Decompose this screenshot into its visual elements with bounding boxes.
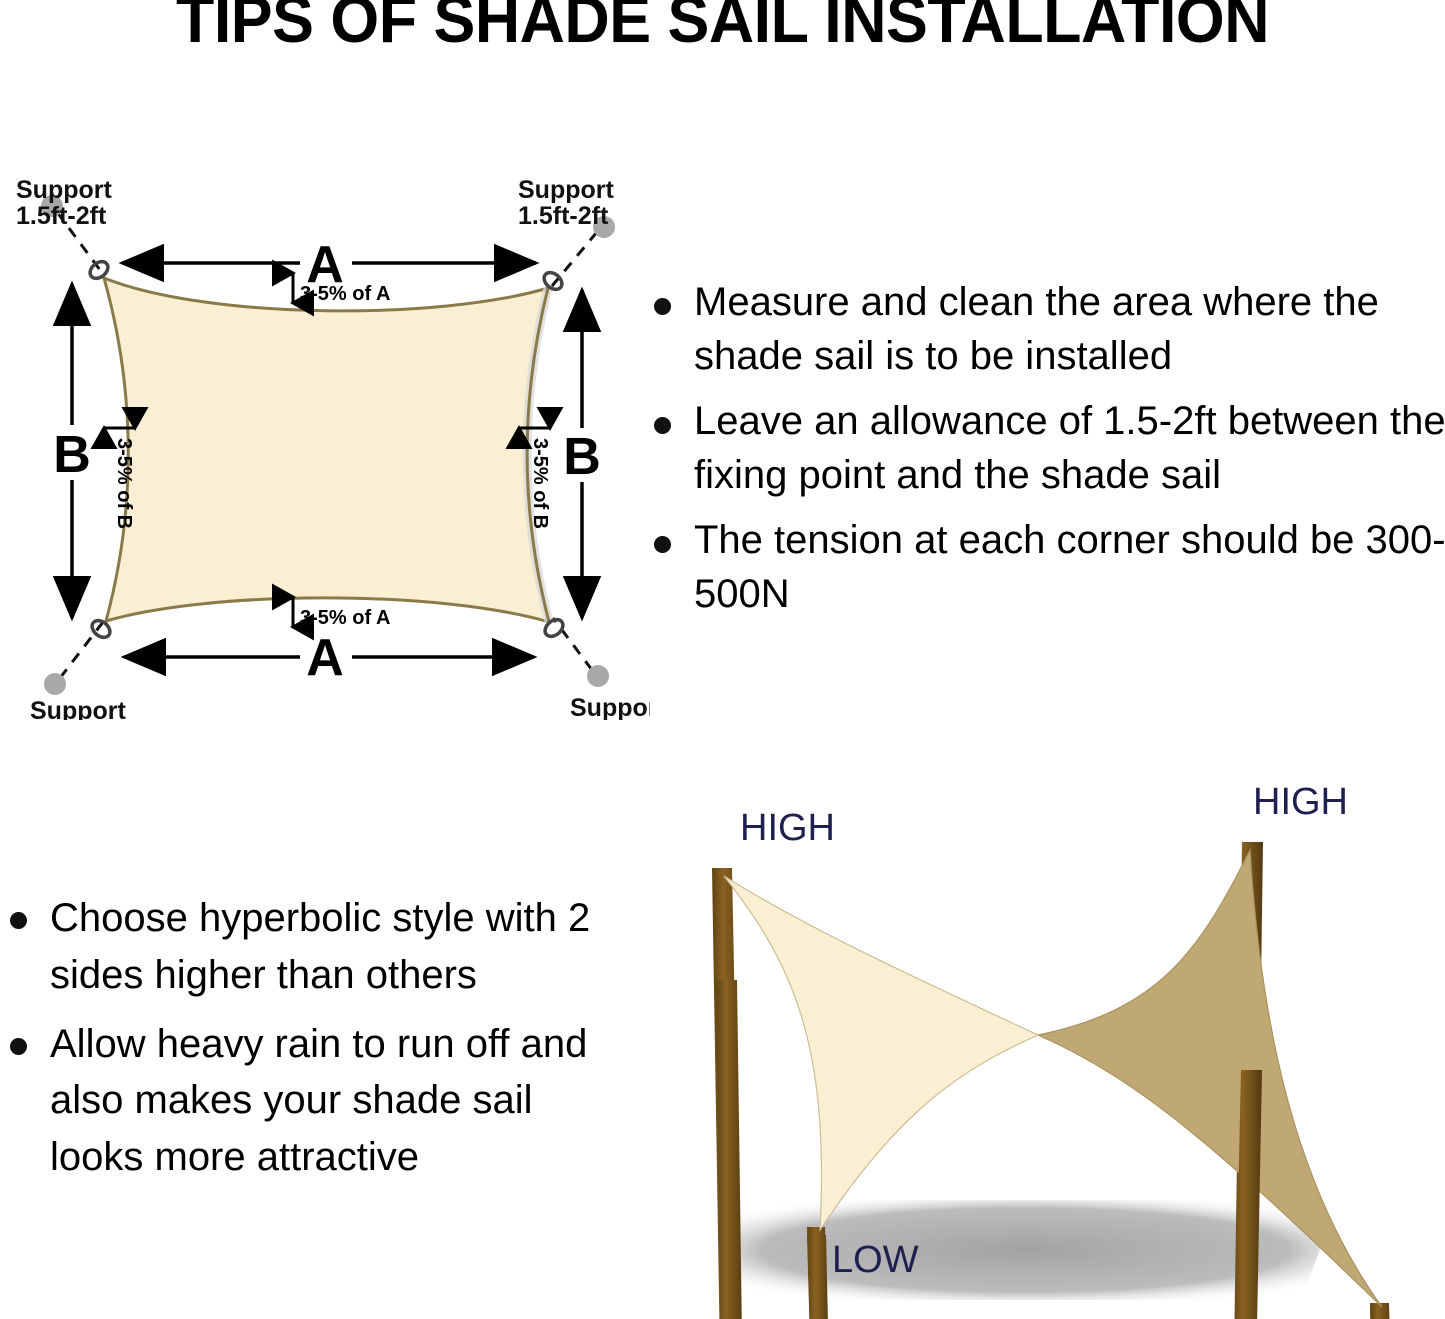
sail-cream-panel (724, 876, 1038, 1230)
support-label-bottom-left-line1: Support (30, 697, 126, 720)
support-label-top-right-line1: Support (518, 176, 614, 204)
curve-label-right: 3-5% of B (529, 438, 551, 529)
rectangular-shade-sail-dimension-diagram: A 3-5% of A A 3-5% of A B 3-5% of B (0, 160, 650, 720)
page-title: TIPS OF SHADE SAIL INSTALLATION (36, 0, 1409, 53)
support-label-top-left-line1: Support (16, 176, 112, 204)
dimension-label-bottom-a: A (306, 629, 344, 687)
hyperbolic-shade-sail-illustration: HIGH HIGH LOW LOW (640, 780, 1445, 1319)
list-item: The tension at each corner should be 300… (648, 513, 1445, 621)
dimension-label-left-b: B (53, 426, 91, 484)
curve-callout-left: 3-5% of B (104, 428, 135, 529)
corner-label-top-left-high: HIGH (740, 807, 835, 849)
bullet-dot-icon (654, 417, 671, 434)
list-item-label: Measure and clean the area where the sha… (694, 280, 1379, 378)
list-item-label: Allow heavy rain to run off and also mak… (50, 1022, 587, 1180)
dimension-right-b: B (563, 290, 601, 618)
support-label-bottom-right-line1: Support (570, 694, 650, 720)
list-item: Leave an allowance of 1.5-2ft between th… (648, 394, 1445, 502)
list-item-label: Leave an allowance of 1.5-2ft between th… (694, 399, 1445, 497)
bullet-dot-icon (654, 298, 671, 315)
dimension-bottom-a: A (124, 629, 534, 687)
support-label-top-left-line2: 1.5ft-2ft (16, 202, 107, 230)
list-item: Measure and clean the area where the sha… (648, 275, 1445, 383)
dimension-left-b: B (53, 284, 91, 618)
post-top-left-high-front (716, 980, 744, 1319)
bullet-dot-icon (654, 536, 671, 553)
curve-label-top: 3-5% of A (300, 283, 390, 305)
tips-list-left: Choose hyperbolic style with 2 sides hig… (4, 890, 624, 1198)
dimension-label-right-b: B (563, 428, 601, 486)
infographic-page: TIPS OF SHADE SAIL INSTALLATION (0, 0, 1445, 1319)
tips-list-right: Measure and clean the area where the sha… (648, 275, 1445, 632)
post-bottom-right-low-front (1370, 1308, 1393, 1319)
bullet-dot-icon (10, 912, 27, 929)
support-label-top-right-line2: 1.5ft-2ft (518, 202, 609, 230)
shade-sail-body (104, 278, 549, 622)
curve-callout-bottom: 3-5% of A (293, 597, 390, 629)
curve-label-left: 3-5% of B (113, 438, 135, 529)
corner-label-top-right-high: HIGH (1253, 781, 1348, 823)
corner-label-bottom-left-low: LOW (832, 1239, 919, 1281)
list-item: Choose hyperbolic style with 2 sides hig… (4, 890, 624, 1004)
list-item-label: Choose hyperbolic style with 2 sides hig… (50, 896, 590, 997)
list-item-label: The tension at each corner should be 300… (694, 518, 1445, 616)
curve-label-bottom: 3-5% of A (300, 607, 390, 629)
list-item: Allow heavy rain to run off and also mak… (4, 1016, 624, 1186)
bullet-dot-icon (10, 1038, 27, 1055)
